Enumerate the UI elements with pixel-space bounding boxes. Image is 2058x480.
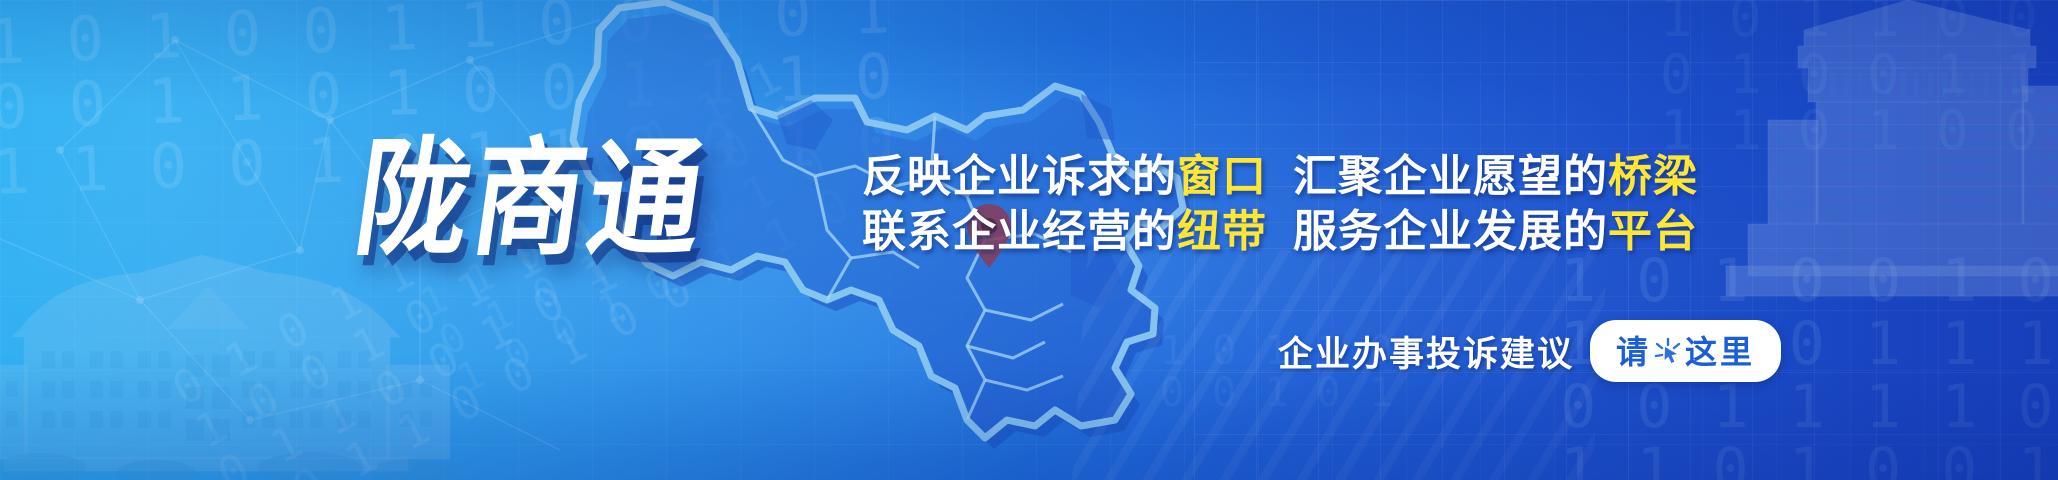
brand-title: 陇商通 <box>346 96 720 281</box>
cta-prompt-text: 企业办事投诉建议 <box>1278 326 1574 377</box>
click-here-button[interactable]: 请 这里 <box>1590 320 1781 382</box>
slogan-seg: 联系企业经营的 <box>862 206 1177 257</box>
banner-content: 陇商通 反映企业诉求的窗口汇聚企业愿望的桥梁 联系企业经营的纽带服务企业发展的平… <box>0 0 2058 480</box>
cta-row: 企业办事投诉建议 请 <box>1278 320 1781 382</box>
slogan-seg-highlight: 纽带 <box>1177 206 1267 257</box>
button-prefix: 请 <box>1616 327 1651 373</box>
slogan-seg: 服务企业发展的 <box>1293 206 1608 257</box>
click-cursor-icon <box>1653 336 1683 366</box>
click-here-button-label: 请 这里 <box>1616 327 1755 373</box>
slogan-seg-highlight: 平台 <box>1608 206 1698 257</box>
banner-root: 1 0 1 0 0 1 1 0 0 1 0 1 0 0 1 1 0 1 0 0 … <box>0 0 2058 480</box>
button-suffix: 这里 <box>1685 327 1755 373</box>
slogan-line-2: 联系企业经营的纽带服务企业发展的平台 <box>862 195 1698 259</box>
